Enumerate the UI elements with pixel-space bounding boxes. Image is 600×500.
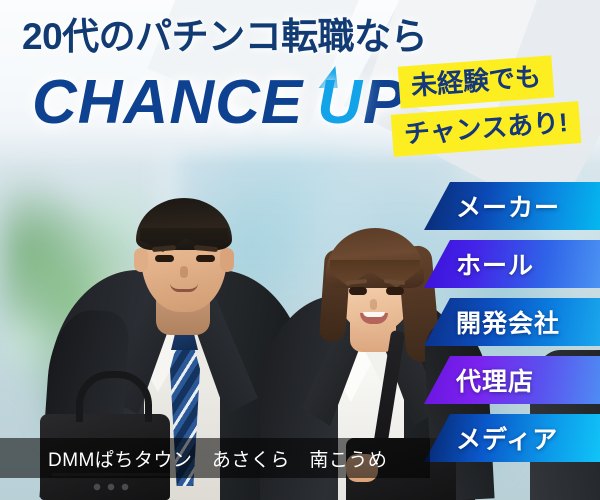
category-button-maker[interactable]: メーカー: [424, 182, 600, 230]
chance-up-logo: CHANCEUP: [32, 72, 405, 134]
category-button-list: メーカー ホール 開発会社 代理店 メディア: [424, 182, 600, 472]
male-eye-right: [196, 255, 215, 262]
category-button-maker-label: メーカー: [456, 188, 560, 224]
category-button-media[interactable]: メディア: [424, 414, 600, 462]
male-briefcase-studs: [90, 482, 132, 492]
category-button-agency[interactable]: 代理店: [424, 356, 600, 404]
male-briefcase-handle: [76, 371, 152, 422]
male-ear-left: [134, 248, 148, 272]
female-nose: [370, 299, 377, 310]
female-teeth: [363, 312, 385, 317]
male-nose: [180, 266, 188, 278]
category-button-hall-label: ホール: [456, 246, 534, 282]
category-button-hall[interactable]: ホール: [424, 240, 600, 288]
female-eye-right: [386, 287, 404, 295]
female-eye-left: [349, 287, 367, 295]
page-title: 20代のパチンコ転職なら: [22, 18, 427, 55]
promo-banner: 20代のパチンコ転職なら CHANCEUP 未経験でも チャンスあり! メーカー…: [0, 0, 600, 500]
category-button-developer[interactable]: 開発会社: [424, 298, 600, 346]
caption-bar: DMMぱちタウン あさくら 南こうめ: [0, 438, 430, 478]
category-button-agency-label: 代理店: [456, 362, 534, 398]
category-button-media-label: メディア: [456, 420, 558, 456]
logo-word-chance: CHANCE: [32, 68, 303, 137]
caption-text: DMMぱちタウン あさくら 南こうめ: [48, 445, 387, 472]
category-button-developer-label: 開発会社: [456, 304, 560, 340]
male-ear-right: [220, 248, 234, 272]
male-eye-left: [155, 255, 174, 262]
logo-letter-u: U: [317, 68, 363, 137]
